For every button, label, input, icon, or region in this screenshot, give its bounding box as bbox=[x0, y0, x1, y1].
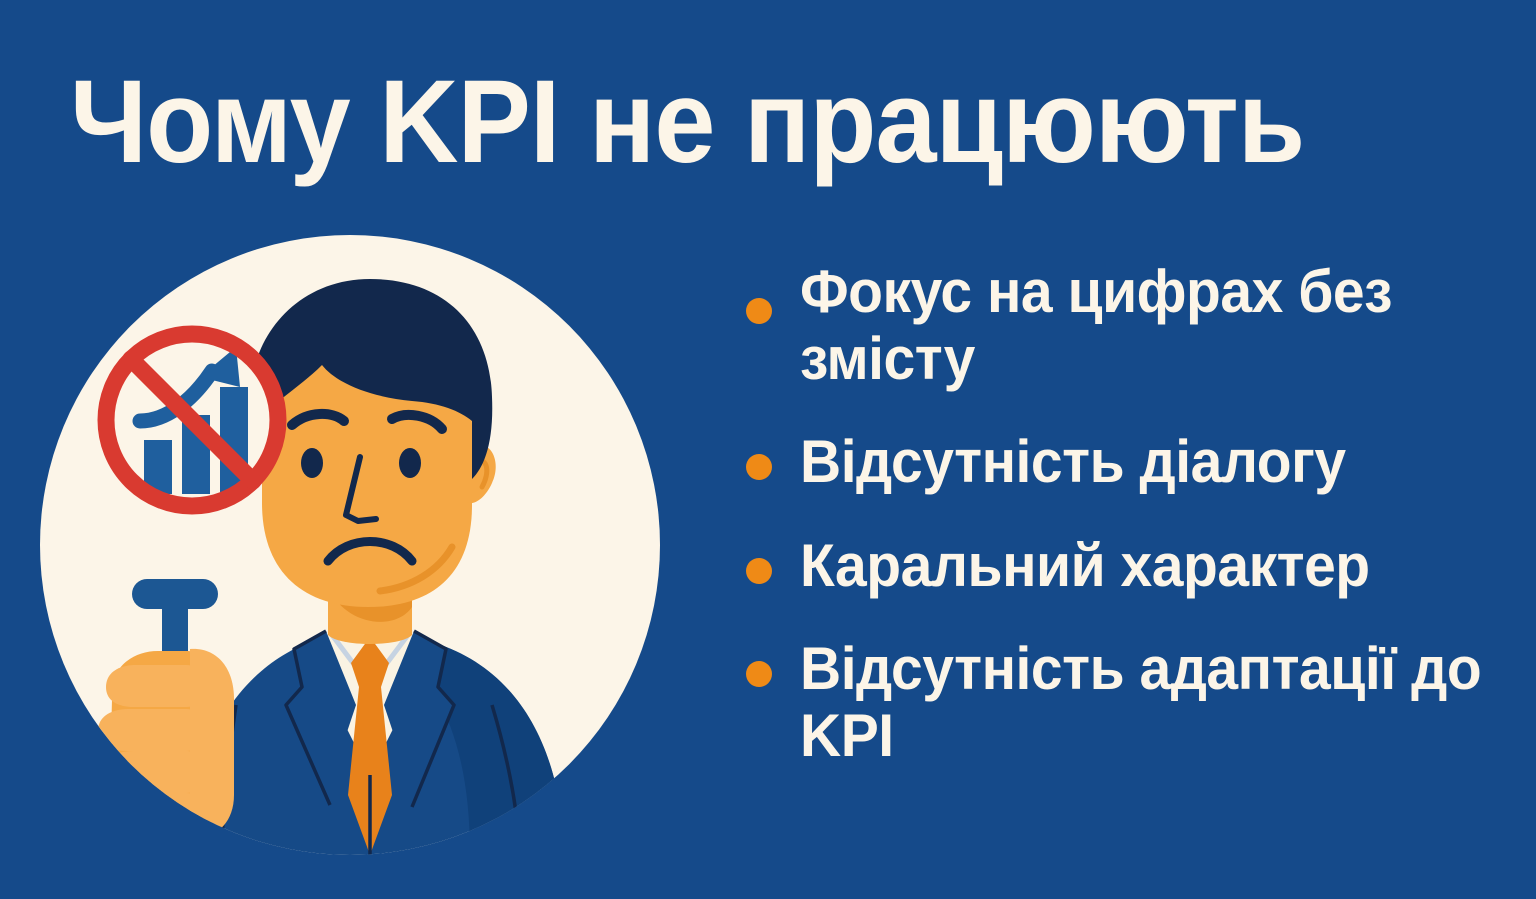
page-title: Чому KPI не працюють bbox=[70, 62, 1372, 182]
illustration-container bbox=[40, 235, 660, 855]
no-growth-chart-sign bbox=[98, 326, 286, 514]
list-item: Відсутність діалогу bbox=[746, 428, 1526, 495]
bullet-label: Каральний характер bbox=[800, 532, 1370, 599]
sign-stick-top-bar bbox=[132, 579, 218, 609]
bullet-dot-icon bbox=[746, 661, 772, 687]
bullet-dot-icon bbox=[746, 298, 772, 324]
shirt-cuff bbox=[112, 833, 240, 855]
bullet-label: Фокус на цифрах без змісту bbox=[800, 258, 1490, 392]
bullet-list: Фокус на цифрах без змісту Відсутність д… bbox=[746, 258, 1526, 795]
list-item: Каральний характер bbox=[746, 532, 1526, 599]
thumb bbox=[190, 649, 234, 837]
eye-right bbox=[399, 448, 421, 478]
bullet-dot-icon bbox=[746, 454, 772, 480]
list-item: Фокус на цифрах без змісту bbox=[746, 258, 1526, 392]
eye-left bbox=[301, 448, 323, 478]
poster-canvas: Чому KPI не працюють bbox=[0, 0, 1536, 899]
bullet-label: Відсутність адаптації до KPI bbox=[800, 635, 1490, 769]
list-item: Відсутність адаптації до KPI bbox=[746, 635, 1526, 769]
bullet-dot-icon bbox=[746, 558, 772, 584]
bullet-label: Відсутність діалогу bbox=[800, 428, 1346, 495]
hand-gripping-stick bbox=[98, 649, 234, 837]
